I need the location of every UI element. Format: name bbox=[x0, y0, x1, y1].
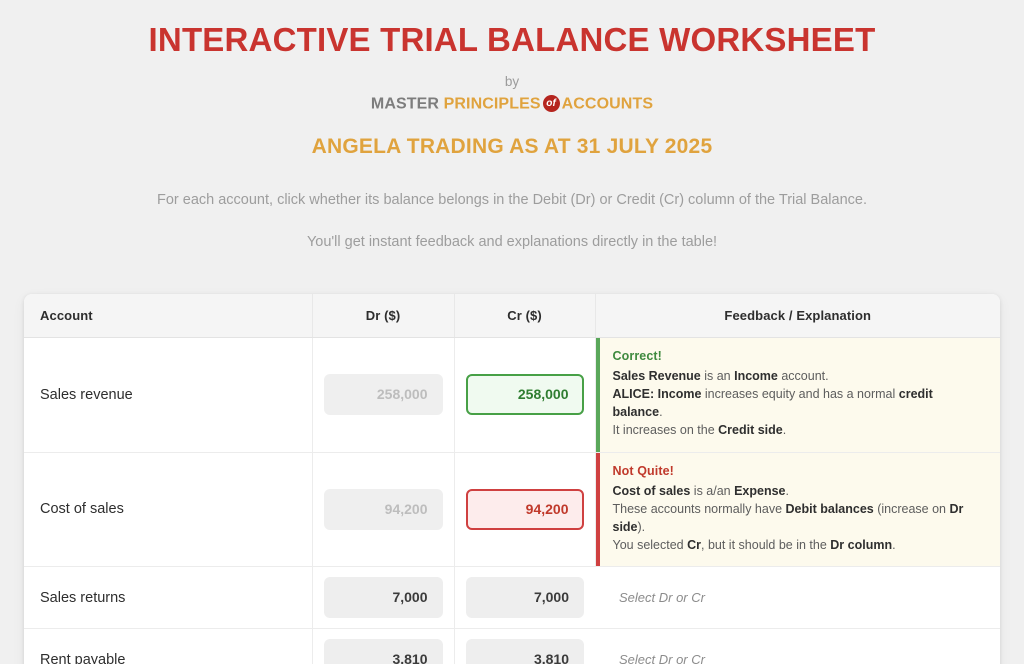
table-row: Cost of sales 94,200 94,200 Not Quite! C… bbox=[24, 452, 1000, 567]
dr-button[interactable]: 94,200 bbox=[324, 489, 443, 530]
logo-word-accounts: ACCOUNTS bbox=[562, 96, 653, 113]
feedback-text: is a/an bbox=[690, 484, 734, 498]
column-header-account: Account bbox=[24, 294, 312, 338]
feedback-line: Cost of sales is a/an Expense. bbox=[613, 482, 987, 500]
feedback-text: . bbox=[892, 538, 895, 552]
by-label: by bbox=[0, 74, 1024, 89]
cr-button[interactable]: 94,200 bbox=[466, 489, 584, 530]
cr-button[interactable]: 7,000 bbox=[466, 577, 585, 618]
dr-cell: 3,810 bbox=[312, 629, 454, 664]
feedback-line: You selected Cr, but it should be in the… bbox=[613, 536, 987, 554]
feedback-text: ALICE: Income bbox=[613, 387, 702, 401]
feedback-cell: Select Dr or Cr bbox=[595, 567, 1000, 629]
dr-cell: 7,000 bbox=[312, 567, 454, 629]
brand-logo: MASTER PRINCIPLESofACCOUNTS bbox=[0, 96, 1024, 113]
feedback-placeholder: Select Dr or Cr bbox=[619, 652, 705, 664]
cr-button[interactable]: 3,810 bbox=[466, 639, 585, 664]
account-name: Rent payable bbox=[24, 629, 312, 664]
logo-word-master: MASTER bbox=[371, 96, 439, 113]
page-subtitle: ANGELA TRADING AS AT 31 JULY 2025 bbox=[0, 135, 1024, 159]
feedback-line: It increases on the Credit side. bbox=[613, 421, 987, 439]
feedback-text: You selected bbox=[613, 538, 688, 552]
feedback-text: ). bbox=[638, 520, 646, 534]
feedback-text: increases equity and has a normal bbox=[701, 387, 898, 401]
instruction-line-1: For each account, click whether its bala… bbox=[0, 190, 1024, 212]
table-body: Sales revenue 258,000 258,000 Correct! S… bbox=[24, 338, 1000, 664]
dr-button[interactable]: 3,810 bbox=[324, 639, 443, 664]
table-header-row: Account Dr ($) Cr ($) Feedback / Explana… bbox=[24, 294, 1000, 338]
feedback-text: Debit balances bbox=[786, 502, 874, 516]
feedback-text: Cost of sales bbox=[613, 484, 691, 498]
trial-balance-table: Account Dr ($) Cr ($) Feedback / Explana… bbox=[24, 294, 1000, 664]
cr-cell: 3,810 bbox=[454, 629, 595, 664]
feedback-text: Credit side bbox=[718, 423, 783, 437]
feedback-cell: Not Quite! Cost of sales is a/an Expense… bbox=[595, 452, 1000, 567]
worksheet-card: Account Dr ($) Cr ($) Feedback / Explana… bbox=[24, 294, 1000, 664]
feedback-text: account. bbox=[778, 369, 829, 383]
feedback-panel: Not Quite! Cost of sales is a/an Expense… bbox=[596, 453, 1001, 567]
feedback-cell: Correct! Sales Revenue is an Income acco… bbox=[595, 338, 1000, 453]
table-row: Rent payable 3,810 3,810 Select Dr or Cr bbox=[24, 629, 1000, 664]
feedback-text: . bbox=[786, 484, 789, 498]
cr-button[interactable]: 258,000 bbox=[466, 374, 584, 415]
feedback-status-badge: Correct! bbox=[613, 349, 987, 363]
feedback-text: Dr column bbox=[830, 538, 892, 552]
account-name: Sales revenue bbox=[24, 338, 312, 453]
logo-of-badge-icon: of bbox=[543, 95, 560, 112]
dr-cell: 258,000 bbox=[312, 338, 454, 453]
dr-button[interactable]: 258,000 bbox=[324, 374, 443, 415]
instruction-line-2: You'll get instant feedback and explanat… bbox=[0, 232, 1024, 254]
table-row: Sales returns 7,000 7,000 Select Dr or C… bbox=[24, 567, 1000, 629]
feedback-text: (increase on bbox=[874, 502, 950, 516]
feedback-text: These accounts normally have bbox=[613, 502, 786, 516]
cr-cell: 7,000 bbox=[454, 567, 595, 629]
account-name: Sales returns bbox=[24, 567, 312, 629]
feedback-text: It increases on the bbox=[613, 423, 719, 437]
table-header: Account Dr ($) Cr ($) Feedback / Explana… bbox=[24, 294, 1000, 338]
logo-word-principles: PRINCIPLES bbox=[444, 96, 541, 113]
feedback-text: . bbox=[659, 405, 662, 419]
account-name: Cost of sales bbox=[24, 452, 312, 567]
cr-cell: 94,200 bbox=[454, 452, 595, 567]
column-header-feedback: Feedback / Explanation bbox=[595, 294, 1000, 338]
feedback-text: Cr bbox=[687, 538, 701, 552]
feedback-text: Sales Revenue bbox=[613, 369, 701, 383]
dr-cell: 94,200 bbox=[312, 452, 454, 567]
feedback-text: Income bbox=[734, 369, 778, 383]
table-row: Sales revenue 258,000 258,000 Correct! S… bbox=[24, 338, 1000, 453]
feedback-placeholder: Select Dr or Cr bbox=[619, 590, 705, 605]
feedback-line: ALICE: Income increases equity and has a… bbox=[613, 385, 987, 421]
feedback-cell: Select Dr or Cr bbox=[595, 629, 1000, 664]
feedback-text: , but it should be in the bbox=[701, 538, 830, 552]
column-header-cr: Cr ($) bbox=[454, 294, 595, 338]
page-title: INTERACTIVE TRIAL BALANCE WORKSHEET bbox=[0, 22, 1024, 58]
feedback-line: These accounts normally have Debit balan… bbox=[613, 500, 987, 536]
column-header-dr: Dr ($) bbox=[312, 294, 454, 338]
worksheet-page: INTERACTIVE TRIAL BALANCE WORKSHEET by M… bbox=[0, 0, 1024, 664]
dr-button[interactable]: 7,000 bbox=[324, 577, 443, 618]
feedback-text: is an bbox=[701, 369, 734, 383]
cr-cell: 258,000 bbox=[454, 338, 595, 453]
feedback-status-badge: Not Quite! bbox=[613, 464, 987, 478]
feedback-panel: Correct! Sales Revenue is an Income acco… bbox=[596, 338, 1001, 452]
feedback-line: Sales Revenue is an Income account. bbox=[613, 367, 987, 385]
feedback-text: Expense bbox=[734, 484, 785, 498]
feedback-text: . bbox=[783, 423, 786, 437]
